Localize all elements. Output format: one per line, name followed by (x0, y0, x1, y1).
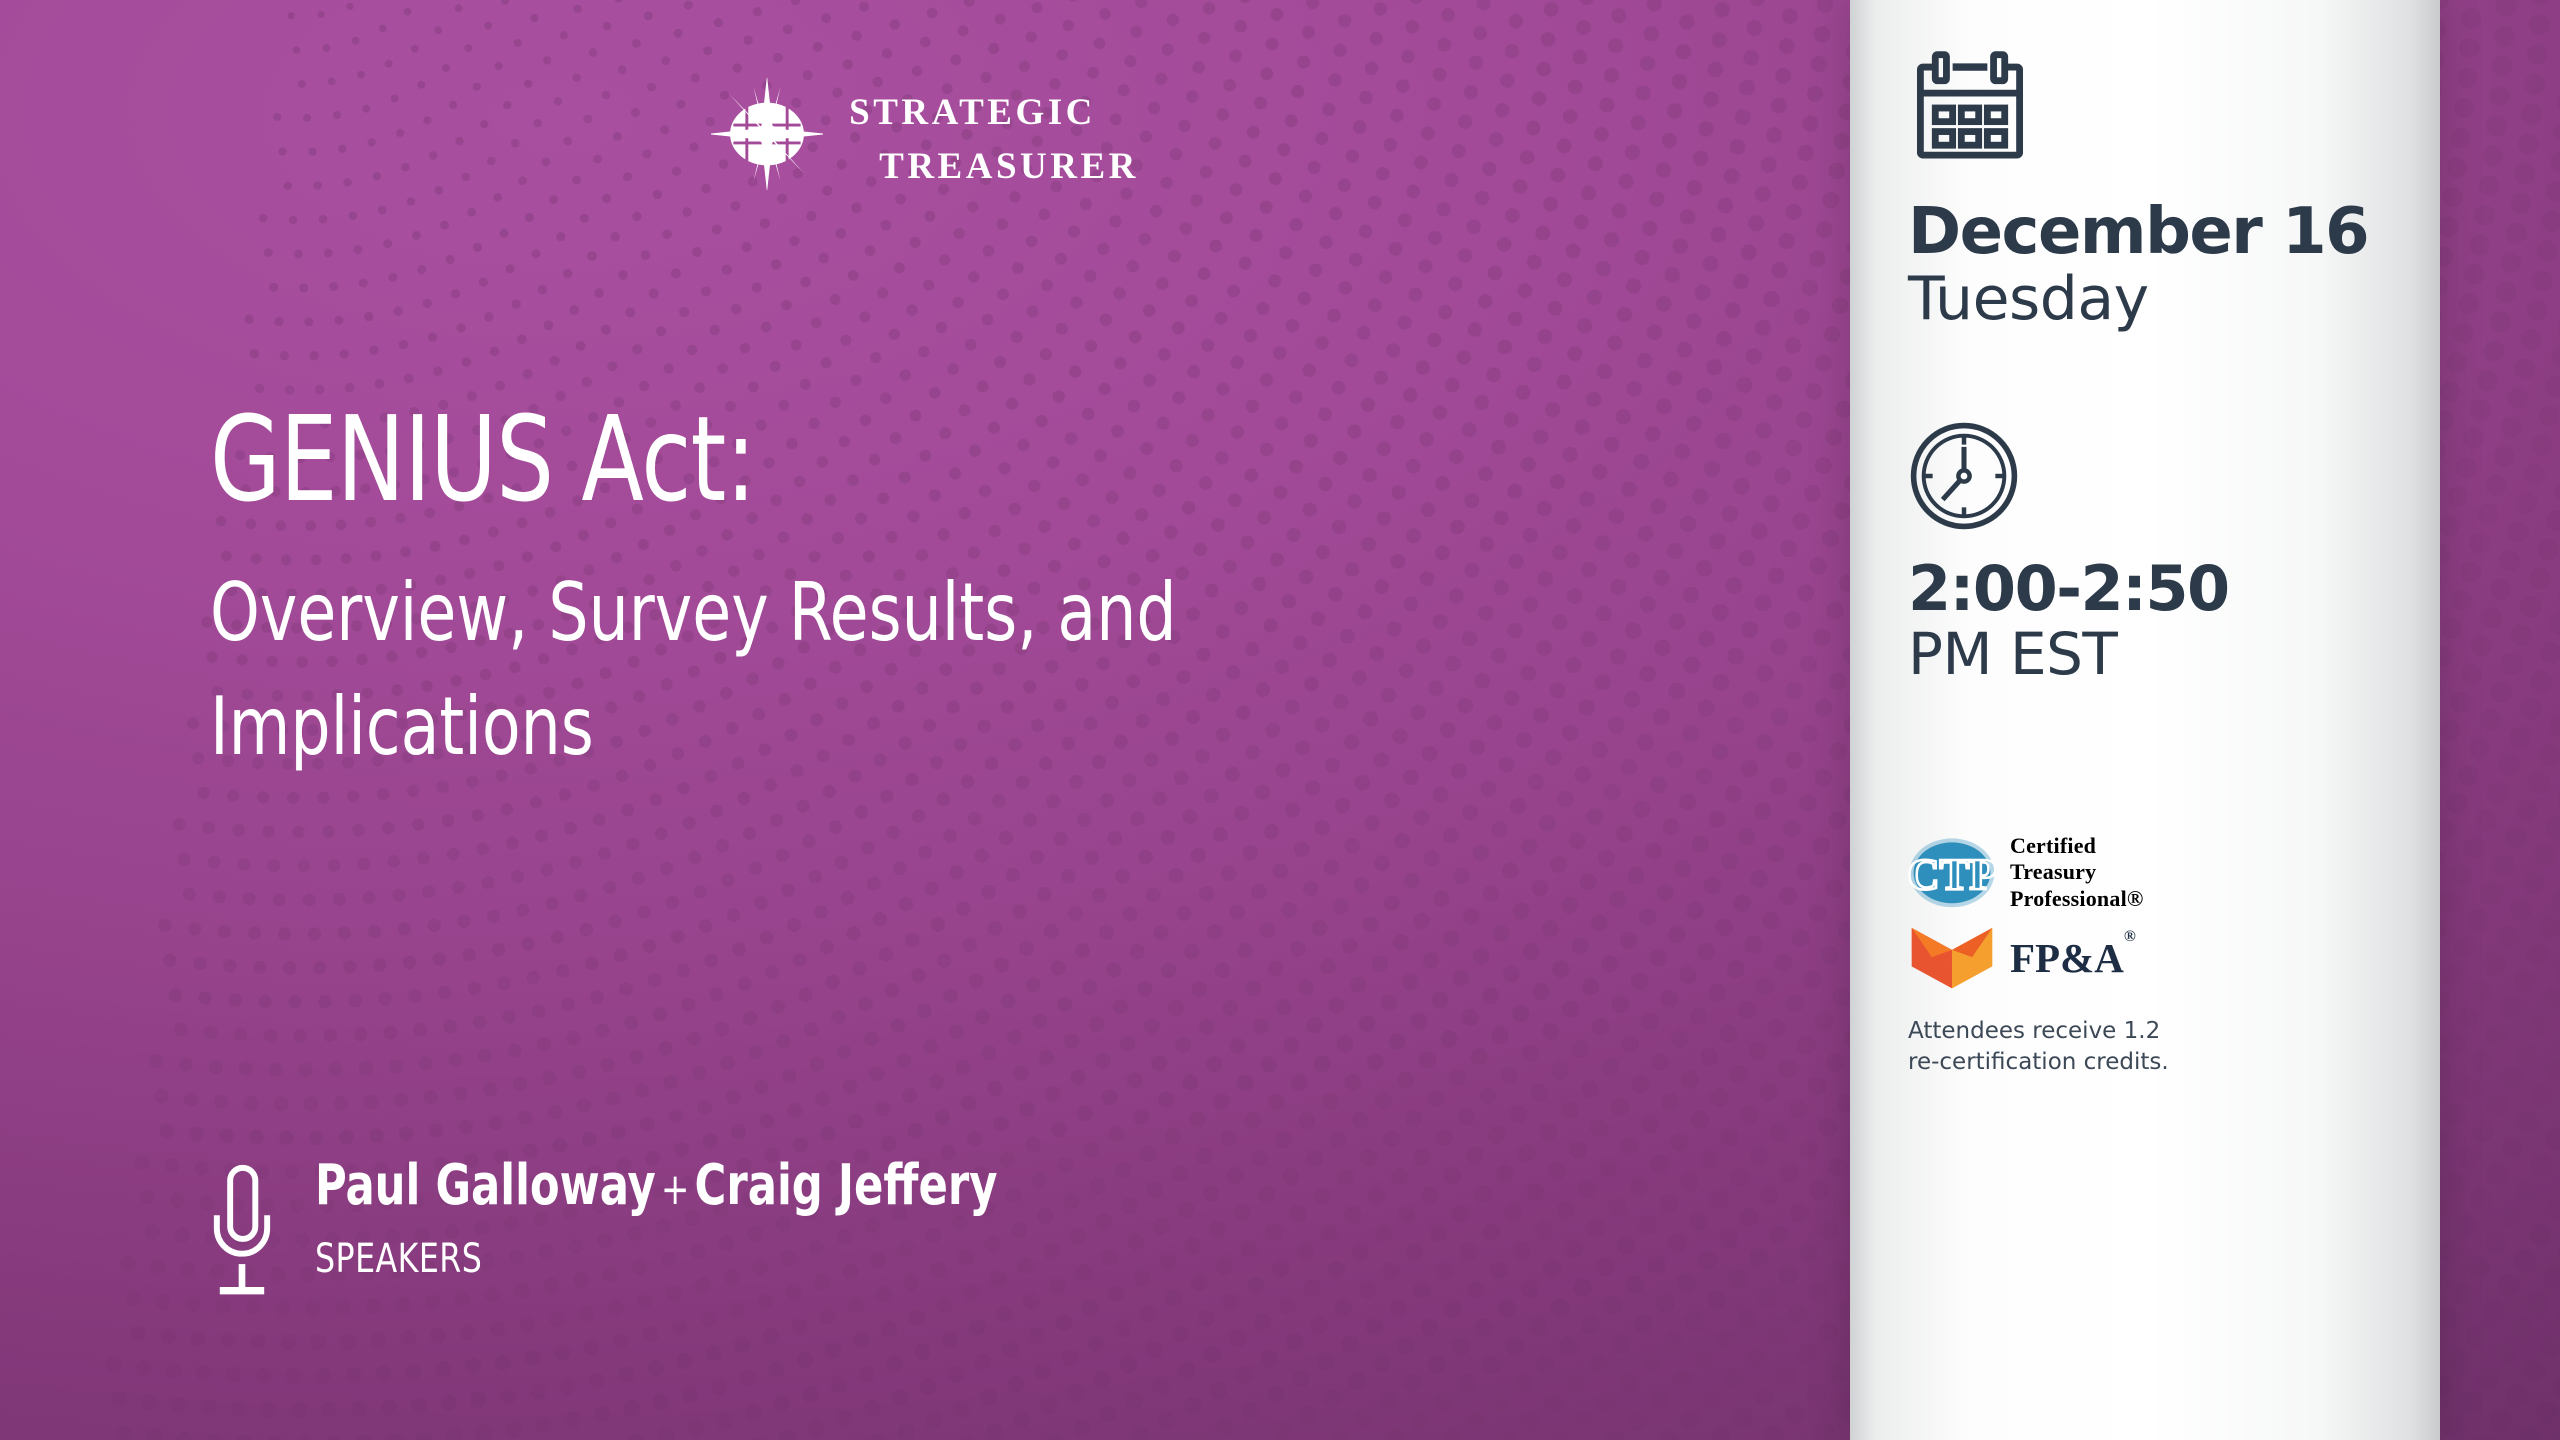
speakers-label: SPEAKERS (315, 1236, 1013, 1282)
event-time-range: 2:00-2:50 (1908, 558, 2378, 620)
event-weekday: Tuesday (1908, 268, 2378, 332)
certification-ctp: CTP Certified Treasury Professional® (1908, 833, 2378, 912)
event-date: December 16 (1908, 200, 2378, 264)
page-subtitle: Overview, Survey Results, and Implicatio… (210, 556, 1583, 783)
fpa-bowtie-icon (1908, 926, 1996, 990)
page-subtitle-line-1: Overview, Survey Results, and (210, 556, 1583, 670)
event-time-period: PM EST (1908, 624, 2378, 685)
recertification-credits-note: Attendees receive 1.2 re-certification c… (1908, 1016, 2378, 1077)
fpa-label-text: FP&A (2010, 935, 2124, 981)
speaker-name-2: Craig Jeffery (695, 1153, 998, 1218)
credits-line-2: re-certification credits. (1908, 1047, 2378, 1077)
ctp-label-line-2: Treasury (2010, 859, 2144, 885)
fpa-label: FP&A® (2010, 938, 2136, 979)
left-content-panel: Strategic Treasurer GENIUS Act: Overview… (0, 0, 1850, 1440)
logo-line-two: Treasurer (879, 134, 1139, 188)
logo-line-one: Strategic (849, 80, 1096, 134)
speaker-separator: + (656, 1164, 695, 1215)
speakers-block: Paul Galloway+Craig Jeffery SPEAKERS (205, 1155, 1109, 1309)
svg-text:CTP: CTP (1908, 848, 1996, 898)
ctp-seal-icon: CTP (1908, 836, 1996, 910)
speaker-names: Paul Galloway+Craig Jeffery (315, 1155, 998, 1218)
title-block: GENIUS Act: Overview, Survey Results, an… (210, 400, 1770, 783)
certification-fpa: FP&A® (1908, 926, 2378, 990)
fpa-registered-mark: ® (2124, 928, 2136, 945)
brand-logo[interactable]: Strategic Treasurer (0, 78, 1850, 190)
page-subtitle-line-2: Implications (210, 670, 1583, 784)
speaker-name-1: Paul Galloway (315, 1153, 656, 1218)
calendar-icon (1908, 46, 2032, 170)
webinar-promo-slide: Strategic Treasurer GENIUS Act: Overview… (0, 0, 2560, 1440)
credits-line-1: Attendees receive 1.2 (1908, 1016, 2378, 1046)
clock-icon (1908, 420, 2020, 532)
event-details-card: December 16 Tuesday 2:00-2:50 PM EST (1850, 0, 2440, 1440)
compass-star-icon (711, 78, 823, 190)
microphone-icon (205, 1159, 279, 1309)
ctp-label-line-1: Certified (2010, 833, 2144, 859)
page-title: GENIUS Act: (210, 400, 1552, 518)
ctp-label-line-3: Professional® (2010, 886, 2144, 912)
ctp-label: Certified Treasury Professional® (2010, 833, 2144, 912)
certifications-block: CTP Certified Treasury Professional® (1908, 833, 2378, 1077)
